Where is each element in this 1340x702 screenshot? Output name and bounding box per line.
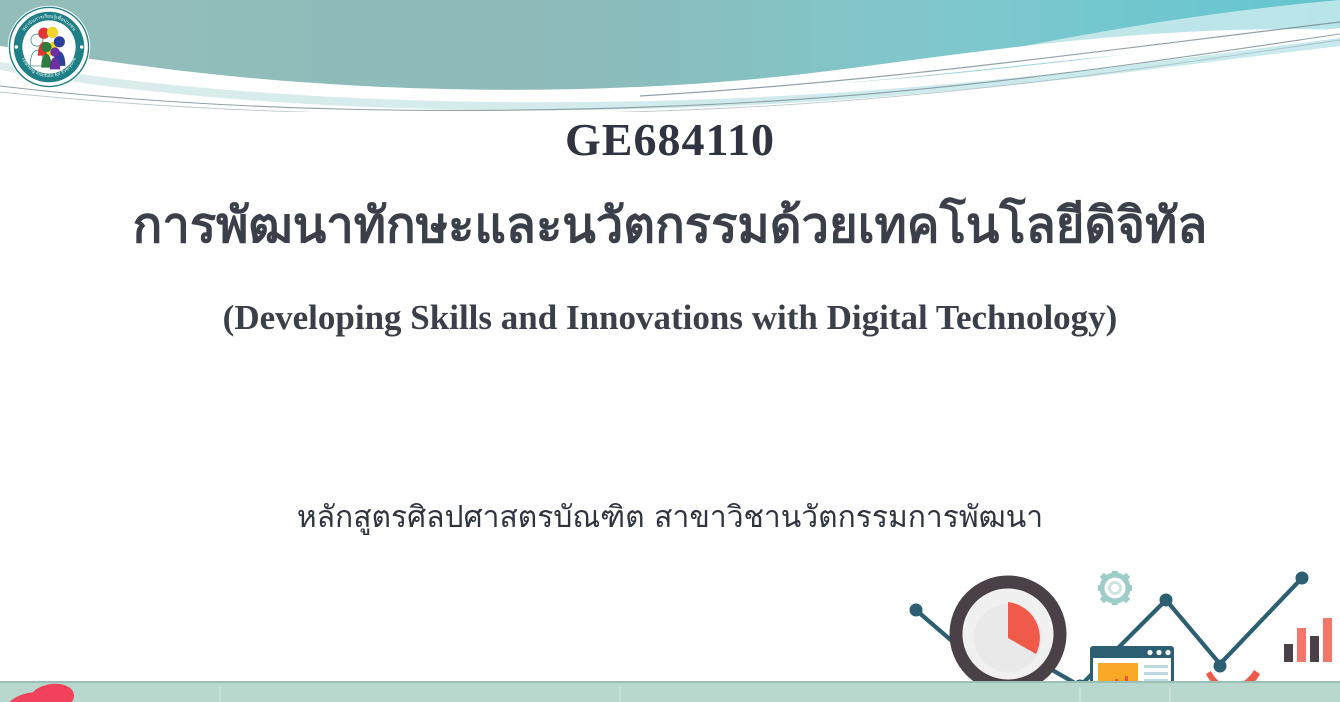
program-name-thai: หลักสูตรศิลปศาสตรบัณฑิต สาขาวิชานวัตกรรม… [0, 494, 1340, 541]
institute-logo: สถาบันการเรียนรู้เพื่อปวงชน Learning Ins… [6, 4, 92, 90]
data-analytics-illustration [890, 548, 1340, 702]
bar-chart-icon [1284, 618, 1332, 662]
slide-title-thai: การพัฒนาทักษะและนวัตกรรมด้วยเทคโนโลยีดิจ… [0, 198, 1340, 254]
header-wave-banner [0, 0, 1340, 112]
presentation-slide: สถาบันการเรียนรู้เพื่อปวงชน Learning Ins… [0, 0, 1340, 702]
footer-tick-marks [220, 687, 1170, 702]
course-code: GE684110 [0, 113, 1340, 166]
gear-icon [1098, 571, 1132, 605]
slide-subtitle-english: (Developing Skills and Innovations with … [0, 298, 1340, 338]
footer-bar [0, 681, 1340, 702]
browser-dots [1147, 650, 1170, 655]
